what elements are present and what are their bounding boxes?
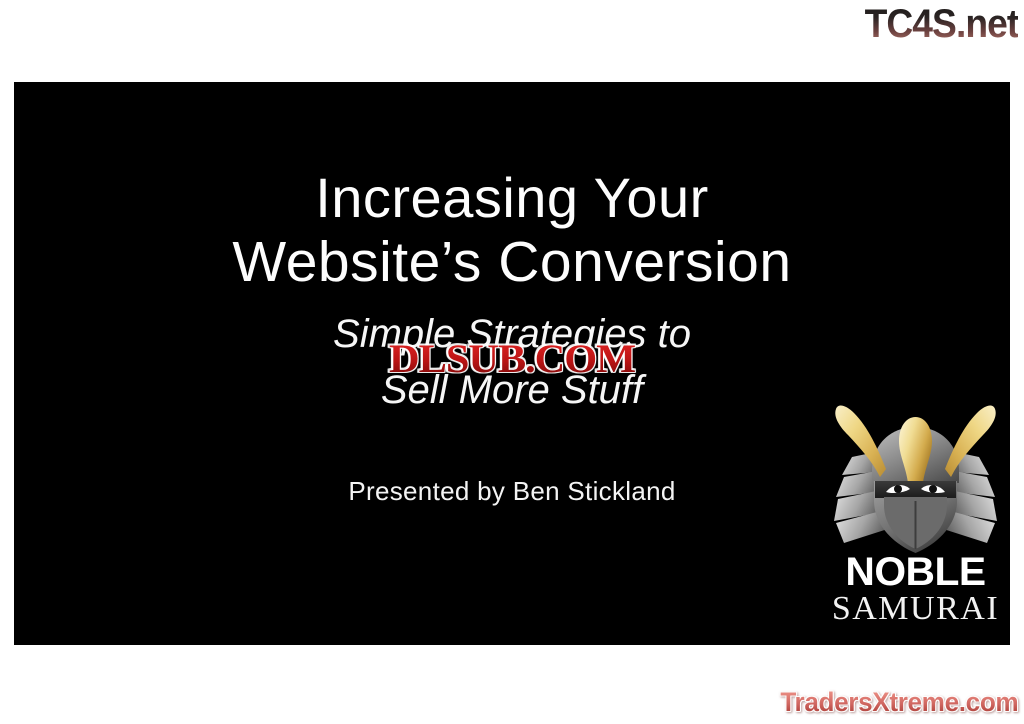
- tradersxtreme-watermark: TradersXtreme.com: [780, 687, 1018, 718]
- subtitle-line-1: Simple Strategies to: [14, 306, 1010, 362]
- tc4s-watermark: TC4S.net: [864, 2, 1018, 47]
- samurai-helmet-icon: [828, 397, 1003, 562]
- title-line-1: Increasing Your: [14, 166, 1010, 230]
- noble-samurai-logo: NOBLE SAMURAI: [828, 397, 1003, 627]
- logo-wordmark: NOBLE SAMURAI: [828, 553, 1003, 627]
- presentation-slide: Increasing Your Website’s Conversion Sim…: [14, 82, 1010, 645]
- title-line-2: Website’s Conversion: [14, 230, 1010, 294]
- slide-page: TC4S.net Increasing Your Website’s Conve…: [0, 0, 1024, 724]
- logo-samurai-text: SAMURAI: [828, 591, 1003, 627]
- logo-noble-text: NOBLE: [826, 553, 1005, 591]
- slide-title: Increasing Your Website’s Conversion: [14, 166, 1010, 294]
